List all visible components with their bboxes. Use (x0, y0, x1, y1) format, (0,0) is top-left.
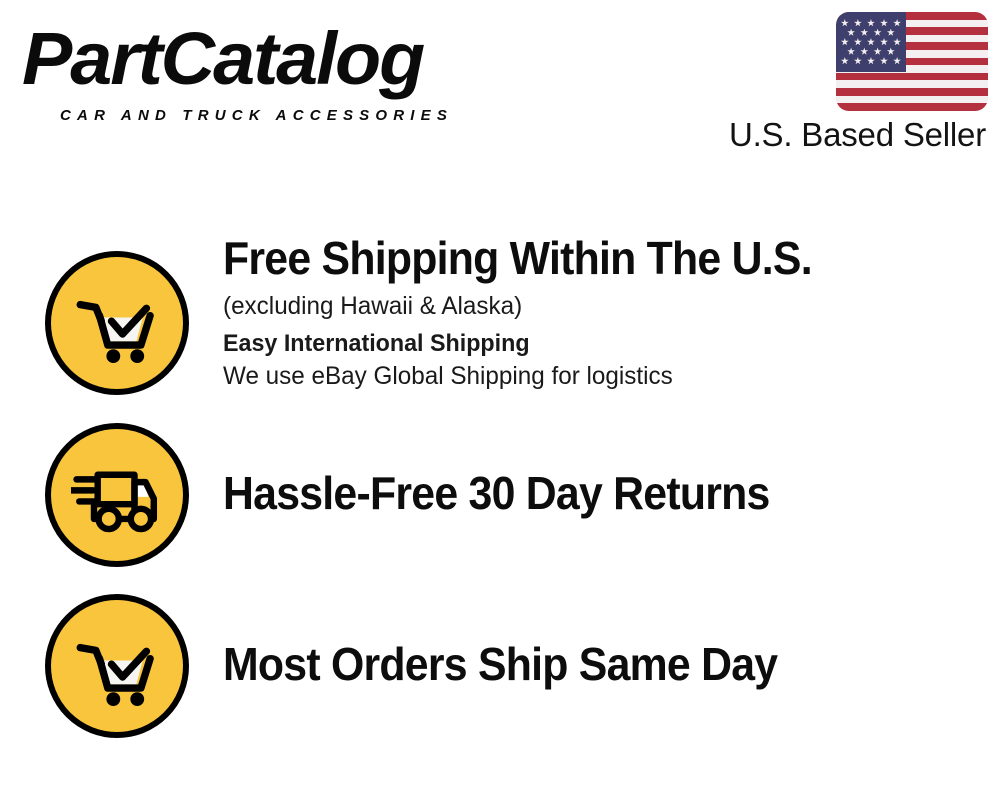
star-icon (893, 57, 901, 65)
star-icon (867, 19, 875, 27)
delivery-truck-icon (71, 449, 163, 541)
star-row (840, 37, 902, 46)
star-icon (847, 47, 855, 55)
feature-icon-wrapper (45, 594, 189, 738)
flag-stripe (836, 88, 988, 96)
flag-stripe (836, 96, 988, 104)
us-based-seller-badge (836, 12, 988, 111)
star-icon (854, 57, 862, 65)
star-icon (880, 57, 888, 65)
feature-subline-exclusions: (excluding Hawaii & Alaska) (223, 290, 941, 322)
star-icon (874, 47, 882, 55)
feature-subline-international-detail: We use eBay Global Shipping for logistic… (223, 360, 941, 392)
feature-headline: Free Shipping Within The U.S. (223, 232, 911, 284)
logo-wordmark: PartCatalog (22, 22, 423, 96)
logo-tagline: CAR AND TRUCK ACCESSORIES (60, 108, 453, 123)
flag-stripe (836, 80, 988, 88)
feature-icon-wrapper (45, 423, 189, 567)
star-row (840, 18, 902, 27)
star-icon (887, 29, 895, 37)
star-icon (880, 38, 888, 46)
feature-text-block: Most Orders Ship Same Day (223, 638, 963, 690)
feature-text-block: Hassle-Free 30 Day Returns (223, 467, 963, 519)
star-icon (867, 38, 875, 46)
icon-circle-badge (45, 594, 189, 738)
us-based-seller-label: U.S. Based Seller (729, 116, 986, 154)
feature-subline-international-heading: Easy International Shipping (223, 328, 941, 360)
star-icon (887, 47, 895, 55)
star-icon (860, 47, 868, 55)
feature-headline: Most Orders Ship Same Day (223, 638, 911, 690)
star-icon (867, 57, 875, 65)
star-row (840, 56, 902, 65)
brand-logo: PartCatalog CAR AND TRUCK ACCESSORIES (22, 22, 492, 118)
star-icon (854, 19, 862, 27)
star-icon (841, 57, 849, 65)
icon-circle-badge (45, 251, 189, 395)
feature-icon-wrapper (45, 251, 189, 395)
feature-headline: Hassle-Free 30 Day Returns (223, 467, 911, 519)
flag-canton (836, 12, 906, 72)
star-icon (841, 19, 849, 27)
icon-circle-badge (45, 423, 189, 567)
shopping-cart-check-icon (71, 277, 163, 369)
star-icon (893, 19, 901, 27)
star-icon (880, 19, 888, 27)
star-icon (860, 29, 868, 37)
star-row (840, 28, 902, 37)
us-flag-icon (836, 12, 988, 111)
feature-text-block: Free Shipping Within The U.S. (excluding… (223, 232, 963, 392)
flag-stripe (836, 103, 988, 111)
shipping-info-banner: PartCatalog CAR AND TRUCK ACCESSORIES (0, 0, 1000, 800)
shopping-cart-check-icon (71, 620, 163, 712)
star-icon (874, 29, 882, 37)
star-row (840, 47, 902, 56)
star-icon (854, 38, 862, 46)
star-icon (893, 38, 901, 46)
flag-stars (836, 12, 906, 72)
star-icon (841, 38, 849, 46)
flag-stripe (836, 73, 988, 81)
star-icon (847, 29, 855, 37)
